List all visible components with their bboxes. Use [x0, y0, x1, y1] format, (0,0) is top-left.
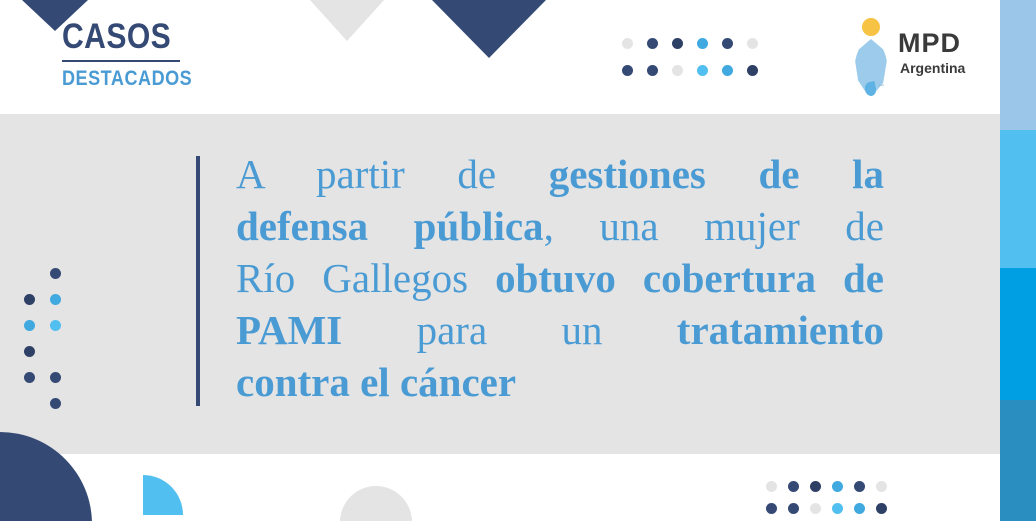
headline-seg-3: defensa pública: [236, 203, 544, 249]
decor-dot: [722, 38, 733, 49]
casos-destacados-lockup: CASOS DESTACADOS: [62, 20, 182, 89]
stripe-light-blue: [1000, 0, 1036, 130]
decor-dot: [50, 372, 61, 383]
headline-seg-5: Río Gallegos: [236, 255, 495, 301]
headline-seg-4: , una mujer de: [544, 203, 884, 249]
headline-seg-8: para un: [342, 307, 677, 353]
lockup-line-destacados: DESTACADOS: [62, 68, 165, 89]
triangle-gray-center-icon: [310, 0, 384, 41]
headline-seg-1: A partir de: [236, 151, 549, 197]
mpd-logo-subtitle: Argentina: [900, 61, 965, 75]
headline-seg-2: gestiones de la: [549, 151, 884, 197]
headline-seg-7: PAMI: [236, 307, 342, 353]
decor-dot: [672, 38, 683, 49]
headline-seg-9: tratamiento: [677, 307, 884, 353]
decor-dot: [832, 503, 843, 514]
decor-dot: [810, 481, 821, 492]
decor-dot: [622, 65, 633, 76]
decor-dot: [24, 320, 35, 331]
decor-dot: [50, 294, 61, 305]
lockup-divider: [62, 60, 180, 62]
dot-grid-bottom: [766, 481, 898, 521]
decor-dot: [647, 38, 658, 49]
casos-destacados-card: CASOS DESTACADOS ™ MPD Argentina A parti…: [0, 0, 1036, 521]
decor-dot: [24, 268, 35, 279]
decor-dot: [810, 503, 821, 514]
headline-seg-10: contra el cáncer: [236, 359, 516, 405]
lockup-line-casos: CASOS: [62, 20, 165, 53]
decor-dot: [832, 481, 843, 492]
decor-dot: [24, 294, 35, 305]
decor-dot: [747, 65, 758, 76]
headline-accent-bar: [196, 156, 200, 406]
decor-dot: [24, 372, 35, 383]
decor-dot: [50, 346, 61, 357]
decor-dot: [50, 268, 61, 279]
decor-dot: [747, 38, 758, 49]
stripe-bright-blue: [1000, 268, 1036, 400]
headline-seg-6: obtuvo cobertura de: [495, 255, 884, 301]
decor-dot: [697, 38, 708, 49]
decor-dot: [697, 65, 708, 76]
mpd-logo-name: MPD: [898, 30, 965, 57]
decor-dot: [647, 65, 658, 76]
decor-dot: [24, 398, 35, 409]
quarter-circle-blue: [143, 475, 183, 515]
decor-dot: [876, 481, 887, 492]
decor-dot: [622, 38, 633, 49]
trademark-symbol: ™: [878, 84, 884, 90]
decor-dot: [50, 398, 61, 409]
decor-dot: [788, 503, 799, 514]
dot-grid-top: [622, 38, 772, 92]
person-head-icon: [862, 18, 880, 36]
headline-text: A partir de gestiones de la defensa públ…: [236, 148, 884, 408]
mpd-logo-text: MPD Argentina: [898, 30, 965, 75]
stripe-steel-blue: [1000, 400, 1036, 521]
decor-dot: [854, 503, 865, 514]
dome-gray: [340, 486, 412, 521]
decor-dot: [672, 65, 683, 76]
decor-dot: [788, 481, 799, 492]
decor-dot: [766, 481, 777, 492]
dot-grid-left: [24, 268, 76, 424]
decor-dot: [766, 503, 777, 514]
mpd-logo: ™ MPD Argentina: [846, 18, 966, 96]
triangle-navy-center-icon: [432, 0, 546, 58]
decor-dot: [722, 65, 733, 76]
decor-dot: [50, 320, 61, 331]
decor-dot: [876, 503, 887, 514]
decor-dot: [854, 481, 865, 492]
decor-dot: [24, 346, 35, 357]
stripe-cyan: [1000, 130, 1036, 268]
